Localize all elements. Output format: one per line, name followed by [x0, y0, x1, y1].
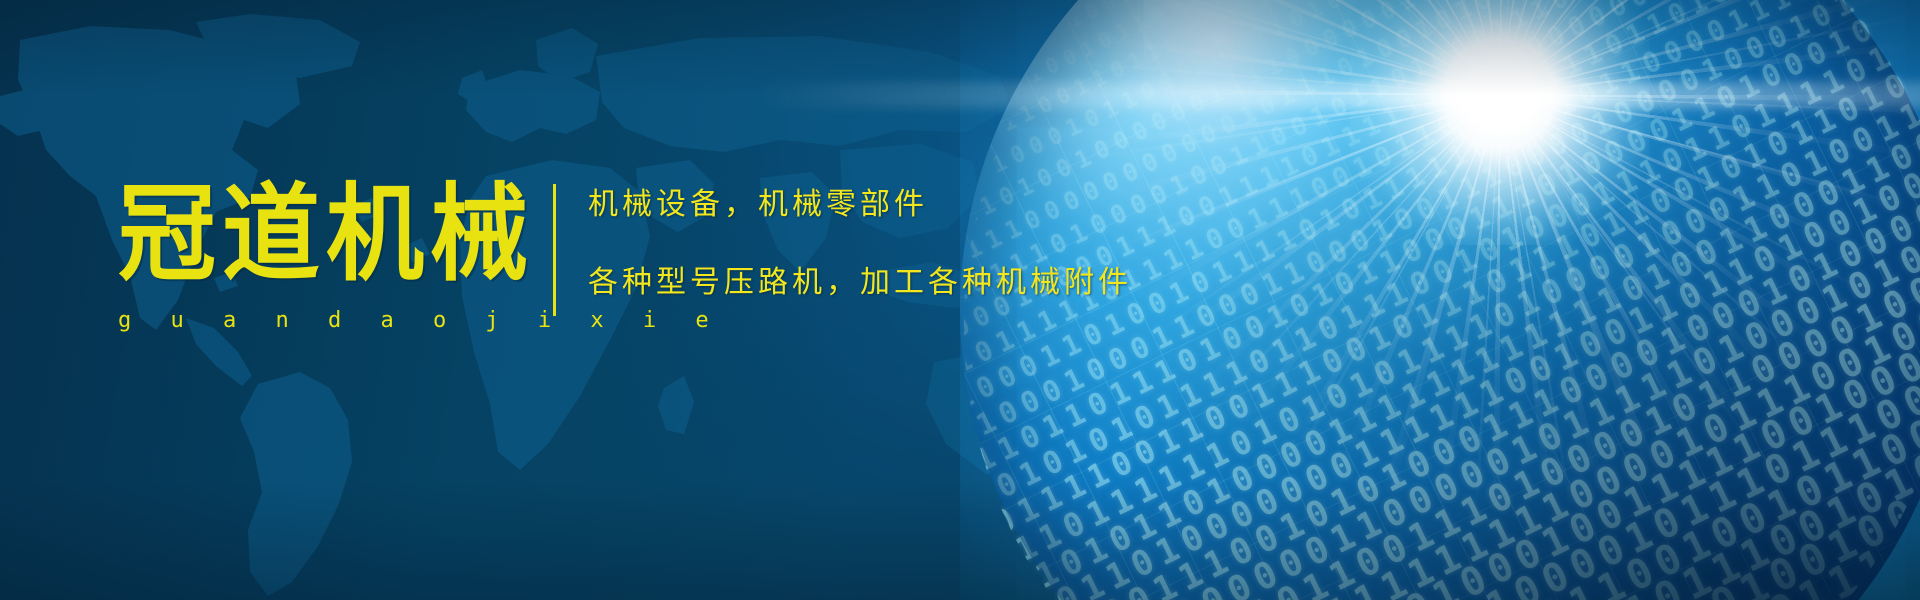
brand-name-cn: 冠道机械	[118, 182, 538, 290]
vertical-divider	[553, 184, 556, 316]
brand-logo[interactable]: 冠道机械 g u a n d a o j i x i e	[118, 182, 538, 333]
banner-content: 冠道机械 g u a n d a o j i x i e 机械设备，机械零部件 …	[0, 0, 1920, 600]
brand-name-pinyin: g u a n d a o j i x i e	[118, 308, 538, 333]
tagline-line-1: 机械设备，机械零部件	[588, 190, 1132, 220]
promo-banner: 0100010110011000101000110010011001001001…	[0, 0, 1920, 600]
tagline-group: 机械设备，机械零部件 各种型号压路机，加工各种机械附件	[588, 190, 1132, 298]
tagline-line-2: 各种型号压路机，加工各种机械附件	[588, 268, 1132, 298]
